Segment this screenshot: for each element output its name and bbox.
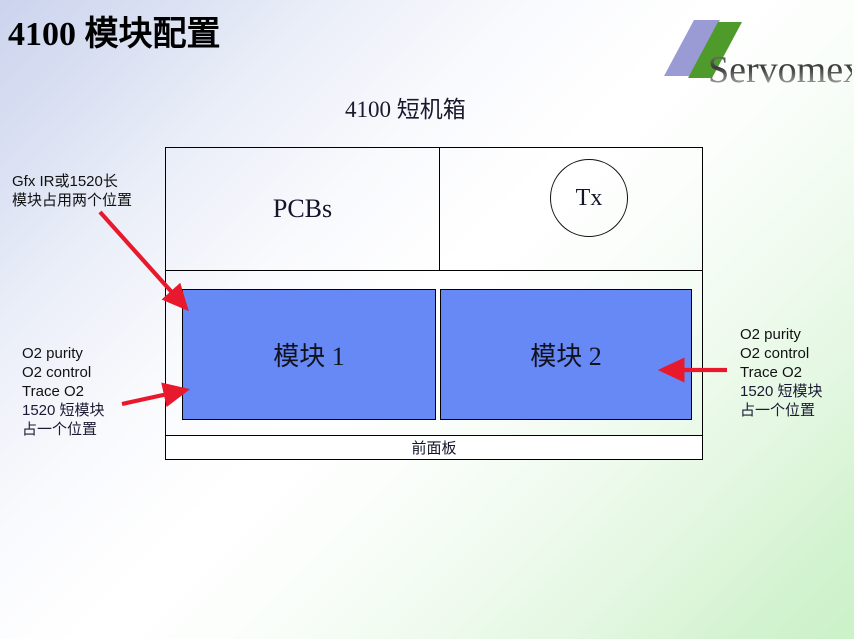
tx-label: Tx — [576, 185, 603, 212]
annotation-mid-left-line-3: Trace O2 — [22, 382, 105, 401]
chassis-top-row: PCBs Tx — [166, 148, 702, 271]
annotation-mid-left: O2 purity O2 control Trace O2 1520 短模块 占… — [22, 344, 105, 439]
page-title: 4100 模块配置 — [8, 6, 221, 55]
module-slot-2: 模块 2 — [440, 289, 692, 420]
module-2-label: 模块 2 — [530, 336, 602, 373]
annotation-top-left: Gfx IR或1520长 模块占用两个位置 — [12, 172, 132, 210]
annotation-right-line-3: Trace O2 — [740, 363, 823, 382]
annotation-mid-left-line-2: O2 control — [22, 363, 105, 382]
annotation-right-line-5: 占一个位置 — [740, 401, 823, 420]
tx-cell: Tx — [440, 148, 702, 270]
module-1-label: 模块 1 — [273, 336, 345, 373]
pcbs-label: PCBs — [273, 194, 332, 224]
servomex-logo: Servomex — [646, 16, 852, 90]
annotation-right-line-1: O2 purity — [740, 325, 823, 344]
slide-canvas: 4100 模块配置 Servomex 4100 短机箱 PCBs — [0, 0, 854, 639]
front-panel-label: 前面板 — [411, 437, 456, 458]
annotation-right: O2 purity O2 control Trace O2 1520 短模块 占… — [740, 325, 823, 420]
diagram-subtitle: 4100 短机箱 — [345, 90, 466, 124]
annotation-mid-left-line-1: O2 purity — [22, 344, 105, 363]
logo-wordmark: Servomex — [708, 49, 852, 90]
annotation-right-line-2: O2 control — [740, 344, 823, 363]
annotation-top-left-line-2: 模块占用两个位置 — [12, 191, 132, 210]
module-slot-1: 模块 1 — [182, 289, 436, 420]
tx-circle: Tx — [550, 159, 628, 237]
chassis-module-row: 模块 1 模块 2 — [166, 271, 702, 436]
annotation-mid-left-line-4: 1520 短模块 — [22, 401, 105, 420]
annotation-mid-left-line-5: 占一个位置 — [22, 420, 105, 439]
front-panel-bar: 前面板 — [166, 436, 702, 459]
annotation-right-line-4: 1520 短模块 — [740, 382, 823, 401]
annotation-top-left-line-1: Gfx IR或1520长 — [12, 172, 132, 191]
pcbs-cell: PCBs — [166, 148, 440, 270]
chassis-frame: PCBs Tx 模块 1 模块 2 前面板 — [165, 147, 703, 460]
